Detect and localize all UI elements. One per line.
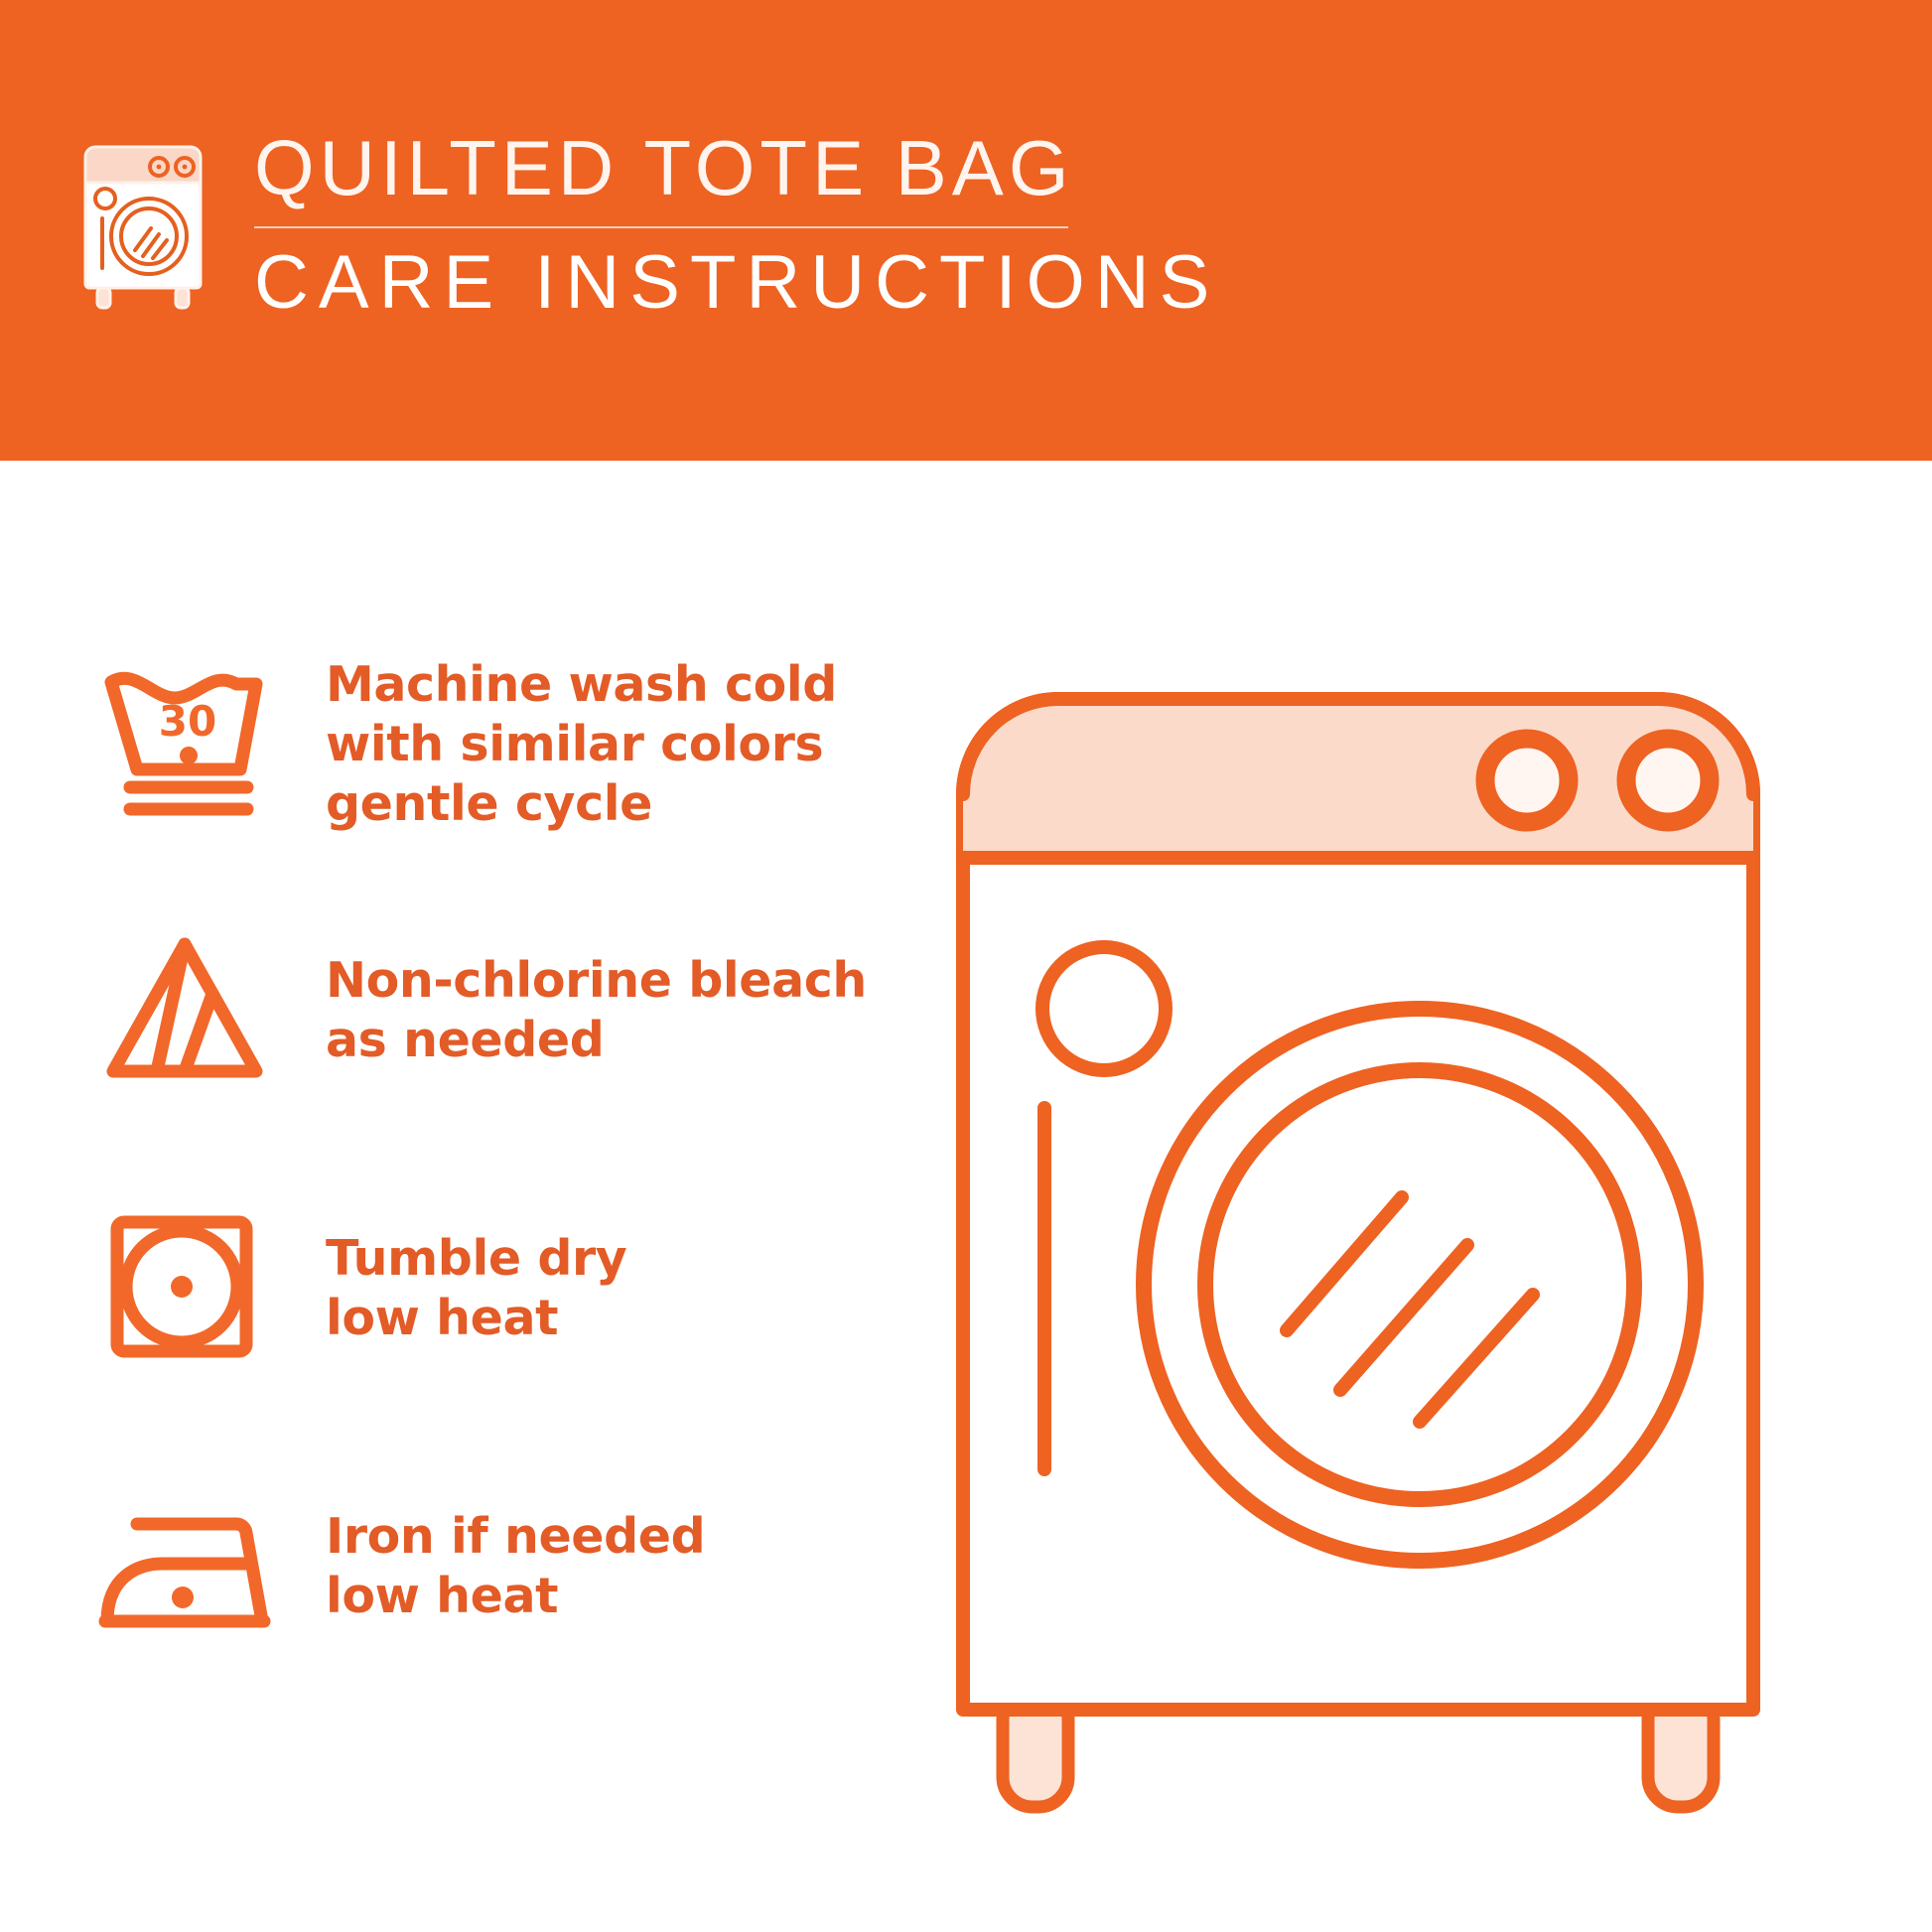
- control-knob-left: [1485, 739, 1569, 822]
- washing-machine-illustration: [953, 635, 1866, 1827]
- care-item-iron: Iron if needed low heat: [77, 1477, 892, 1656]
- wash-temperature-label: 30: [158, 697, 215, 746]
- header-divider: [254, 226, 1068, 228]
- bleach-triangle-icon: [77, 921, 291, 1100]
- care-line: with similar colors: [326, 715, 837, 774]
- care-line: gentle cycle: [326, 774, 837, 834]
- care-line: Iron if needed: [326, 1507, 705, 1567]
- wash-tub-30-icon: 30: [77, 655, 291, 834]
- care-line: Non-chlorine bleach: [326, 951, 867, 1011]
- care-item-label: Iron if needed low heat: [326, 1507, 705, 1626]
- care-item-tumble-dry: Tumble dry low heat: [77, 1199, 892, 1378]
- care-line: low heat: [326, 1567, 705, 1626]
- page-title: QUILTED TOTE BAG: [250, 129, 1219, 208]
- header-text-block: QUILTED TOTE BAG CARE INSTRUCTIONS: [250, 129, 1219, 321]
- care-line: Tumble dry: [326, 1229, 626, 1289]
- tumble-dry-square-icon: [77, 1199, 291, 1378]
- header-content: QUILTED TOTE BAG CARE INSTRUCTIONS: [77, 129, 1219, 321]
- care-line: Machine wash cold: [326, 655, 837, 715]
- care-item-label: Tumble dry low heat: [326, 1229, 626, 1348]
- care-item-label: Non-chlorine bleach as needed: [326, 951, 867, 1070]
- care-line: low heat: [326, 1289, 626, 1348]
- control-knob-right: [1626, 739, 1710, 822]
- washing-machine-icon: [77, 137, 208, 316]
- care-line: as needed: [326, 1011, 867, 1070]
- care-instructions-list: 30 Machine wash cold with similar colors…: [77, 655, 892, 1656]
- page-subtitle: CARE INSTRUCTIONS: [250, 244, 1219, 322]
- iron-icon: [77, 1477, 291, 1656]
- care-item-bleach: Non-chlorine bleach as needed: [77, 921, 892, 1100]
- header-band: QUILTED TOTE BAG CARE INSTRUCTIONS: [0, 0, 1932, 461]
- care-item-label: Machine wash cold with similar colors ge…: [326, 655, 837, 833]
- care-item-machine-wash: 30 Machine wash cold with similar colors…: [77, 655, 892, 834]
